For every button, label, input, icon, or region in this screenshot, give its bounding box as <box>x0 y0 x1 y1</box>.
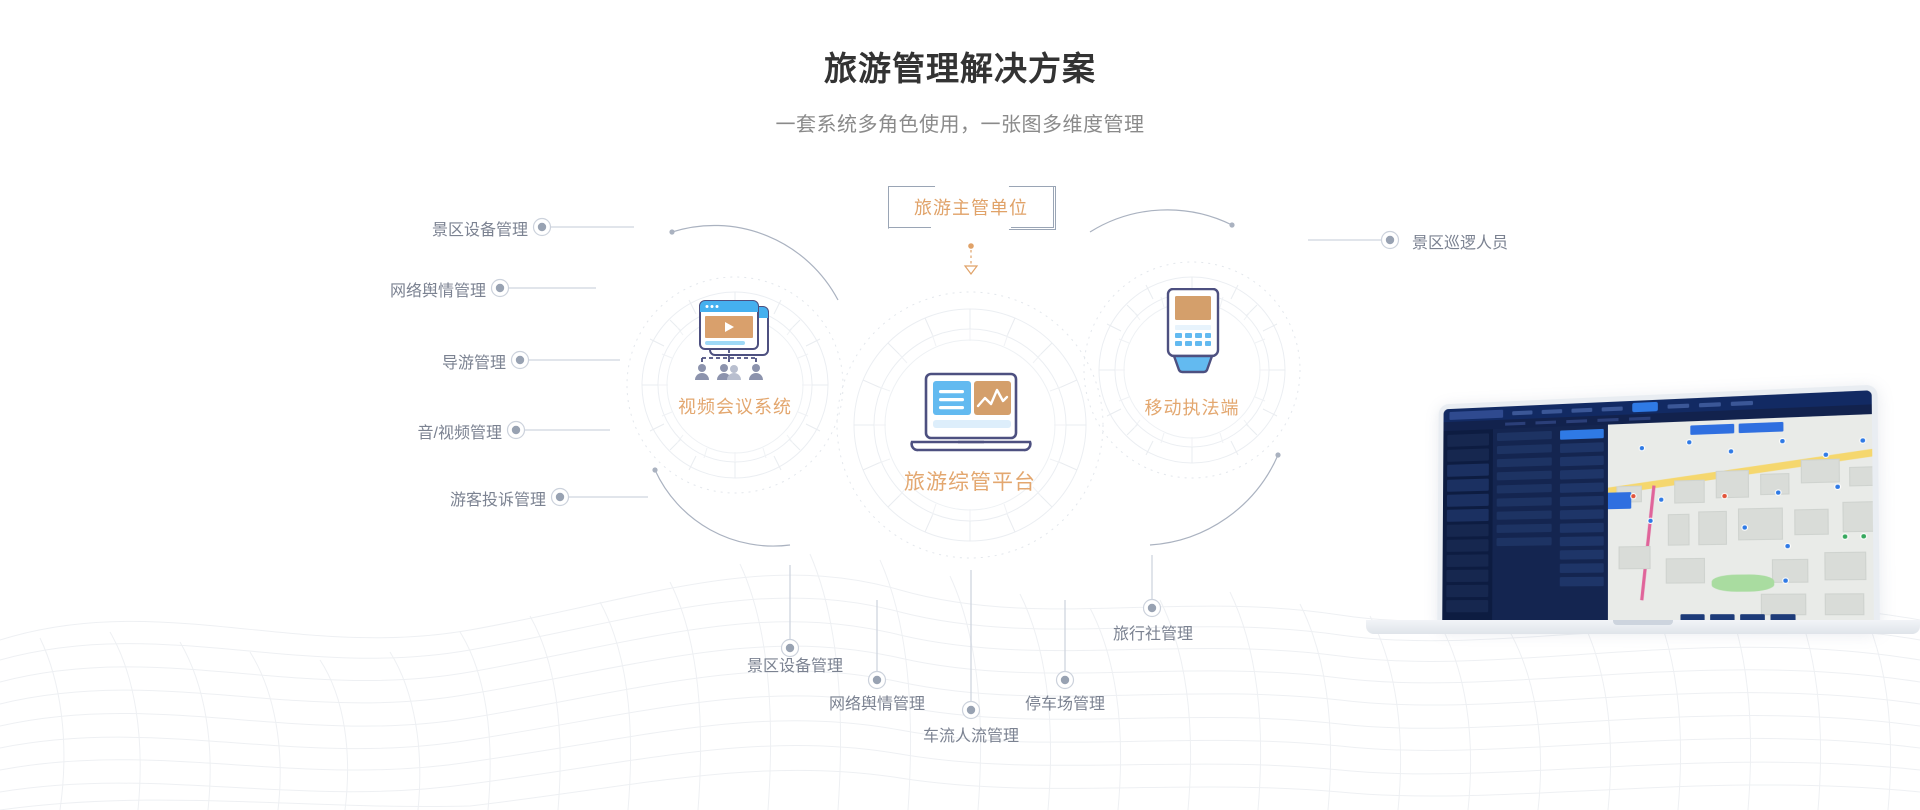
map-marker-ok[interactable] <box>1843 534 1848 538</box>
cluster-label-platform: 旅游综管平台 <box>870 466 1070 496</box>
nav-item[interactable] <box>1602 406 1623 411</box>
label-left-3: 音/视频管理 <box>282 419 502 443</box>
breadcrumb-chip[interactable] <box>1535 421 1555 425</box>
map-marker[interactable] <box>1780 439 1785 443</box>
tree-node[interactable] <box>1497 431 1552 441</box>
label-left-2: 导游管理 <box>286 349 506 373</box>
label-bottom-3: 停车场管理 <box>1000 690 1130 714</box>
label-right-0: 景区巡逻人员 <box>1412 229 1508 253</box>
authority-label: 旅游主管单位 <box>914 194 1028 220</box>
breadcrumb-chip[interactable] <box>1505 422 1525 426</box>
tree-node[interactable] <box>1497 457 1552 467</box>
tree-node[interactable] <box>1497 524 1552 533</box>
layer-item[interactable] <box>1560 456 1604 467</box>
map-block <box>1674 480 1705 504</box>
map-canvas[interactable] <box>1608 414 1874 626</box>
breadcrumb-chip[interactable] <box>1629 417 1650 421</box>
sidebar-item[interactable] <box>1447 524 1489 537</box>
sidebar-item[interactable] <box>1446 585 1488 597</box>
map-marker[interactable] <box>1783 578 1788 582</box>
sidebar-item[interactable] <box>1447 539 1489 552</box>
page-root: 旅游管理解决方案 一套系统多角色使用，一张图多维度管理 <box>0 0 1920 810</box>
sidebar-subitem[interactable] <box>1447 479 1489 492</box>
map-block <box>1761 594 1807 616</box>
map-info-chip <box>1608 492 1631 509</box>
map-marker[interactable] <box>1729 449 1733 453</box>
map-block <box>1619 546 1651 569</box>
map-marker[interactable] <box>1785 544 1790 548</box>
map-block <box>1842 501 1874 532</box>
tree-node[interactable] <box>1497 444 1552 454</box>
map-park-area <box>1712 574 1775 592</box>
map-block <box>1760 473 1789 495</box>
dashboard-sidebar <box>1442 429 1493 625</box>
sidebar-item[interactable] <box>1446 570 1488 582</box>
nav-item[interactable] <box>1542 409 1563 414</box>
label-bottom-1: 网络舆情管理 <box>812 690 942 714</box>
map-view-toggle[interactable] <box>1739 422 1784 433</box>
nav-item[interactable] <box>1731 400 1753 405</box>
dashboard-body <box>1442 414 1874 626</box>
breadcrumb-chip[interactable] <box>1597 418 1618 422</box>
layer-item[interactable] <box>1560 563 1604 573</box>
map-block <box>1716 470 1749 498</box>
map-block <box>1698 511 1727 545</box>
handheld-device-icon <box>1160 288 1226 378</box>
dashboard-logo <box>1449 409 1503 419</box>
map-basemap-selector[interactable] <box>1690 424 1734 435</box>
layer-item[interactable] <box>1560 536 1604 546</box>
map-block <box>1772 559 1809 583</box>
map-toolbar <box>1690 422 1783 435</box>
cluster-label-mobile: 移动执法端 <box>1092 394 1292 420</box>
map-block <box>1738 508 1783 541</box>
sidebar-subitem[interactable] <box>1447 494 1489 507</box>
layer-item[interactable] <box>1560 509 1604 519</box>
layer-item[interactable] <box>1560 469 1604 480</box>
authority-down-arrow <box>965 243 977 274</box>
authority-box: 旅游主管单位 <box>888 186 1054 228</box>
map-block <box>1824 552 1866 581</box>
label-left-1: 网络舆情管理 <box>266 277 486 301</box>
sidebar-item[interactable] <box>1447 433 1489 447</box>
breadcrumb-chip[interactable] <box>1566 419 1587 423</box>
tree-node[interactable] <box>1497 497 1552 506</box>
nav-item[interactable] <box>1571 407 1592 412</box>
dashboard-layer-list <box>1556 425 1608 626</box>
tree-node[interactable] <box>1497 510 1552 519</box>
tree-node[interactable] <box>1497 537 1552 546</box>
map-road-secondary <box>1640 485 1655 600</box>
ring-video-conference <box>627 225 843 546</box>
tree-node[interactable] <box>1497 471 1552 481</box>
label-left-0: 景区设备管理 <box>308 216 528 240</box>
map-marker[interactable] <box>1687 440 1691 444</box>
tree-node[interactable] <box>1497 484 1552 494</box>
nav-item[interactable] <box>1699 402 1721 407</box>
right-dot-markers <box>1382 232 1399 249</box>
layer-item[interactable] <box>1560 496 1604 506</box>
map-marker[interactable] <box>1640 446 1644 450</box>
map-block <box>1666 558 1705 584</box>
label-left-4: 游客投诉管理 <box>326 486 546 510</box>
nav-item-active[interactable] <box>1632 402 1658 412</box>
video-conference-icon <box>684 300 786 382</box>
map-block <box>1825 593 1865 615</box>
sidebar-item[interactable] <box>1446 600 1488 612</box>
nav-item[interactable] <box>1668 403 1690 408</box>
sidebar-item[interactable] <box>1447 554 1489 567</box>
map-marker-ok[interactable] <box>1861 534 1866 538</box>
nav-item[interactable] <box>1512 410 1532 415</box>
map-block <box>1849 466 1874 486</box>
laptop-dashboard-icon <box>908 372 1034 458</box>
layer-item-active[interactable] <box>1560 429 1604 440</box>
layer-item[interactable] <box>1560 523 1604 533</box>
dashboard-tree-panel <box>1492 427 1556 626</box>
sidebar-subitem[interactable] <box>1447 509 1489 522</box>
map-block <box>1794 509 1829 536</box>
map-block <box>1801 459 1840 484</box>
map-marker[interactable] <box>1659 498 1663 502</box>
map-marker[interactable] <box>1648 519 1652 523</box>
label-bottom-4: 旅行社管理 <box>1088 620 1218 644</box>
laptop-trackpad-notch <box>1613 620 1673 625</box>
layer-item[interactable] <box>1560 577 1604 587</box>
layer-item[interactable] <box>1560 550 1604 560</box>
map-block <box>1668 514 1690 546</box>
label-bottom-0: 景区设备管理 <box>730 652 860 676</box>
map-marker[interactable] <box>1860 438 1865 443</box>
dashboard-screen <box>1442 390 1874 626</box>
product-screenshot-mockup <box>1366 404 1920 654</box>
label-bottom-2: 车流人流管理 <box>906 722 1036 746</box>
layer-item[interactable] <box>1560 482 1604 492</box>
sidebar-item[interactable] <box>1447 448 1489 461</box>
cluster-label-video: 视频会议系统 <box>635 393 835 419</box>
laptop-lid <box>1437 385 1880 632</box>
map-marker[interactable] <box>1742 525 1746 529</box>
map-marker[interactable] <box>1835 485 1840 489</box>
sidebar-item-active[interactable] <box>1447 463 1489 476</box>
layer-item[interactable] <box>1560 442 1604 453</box>
